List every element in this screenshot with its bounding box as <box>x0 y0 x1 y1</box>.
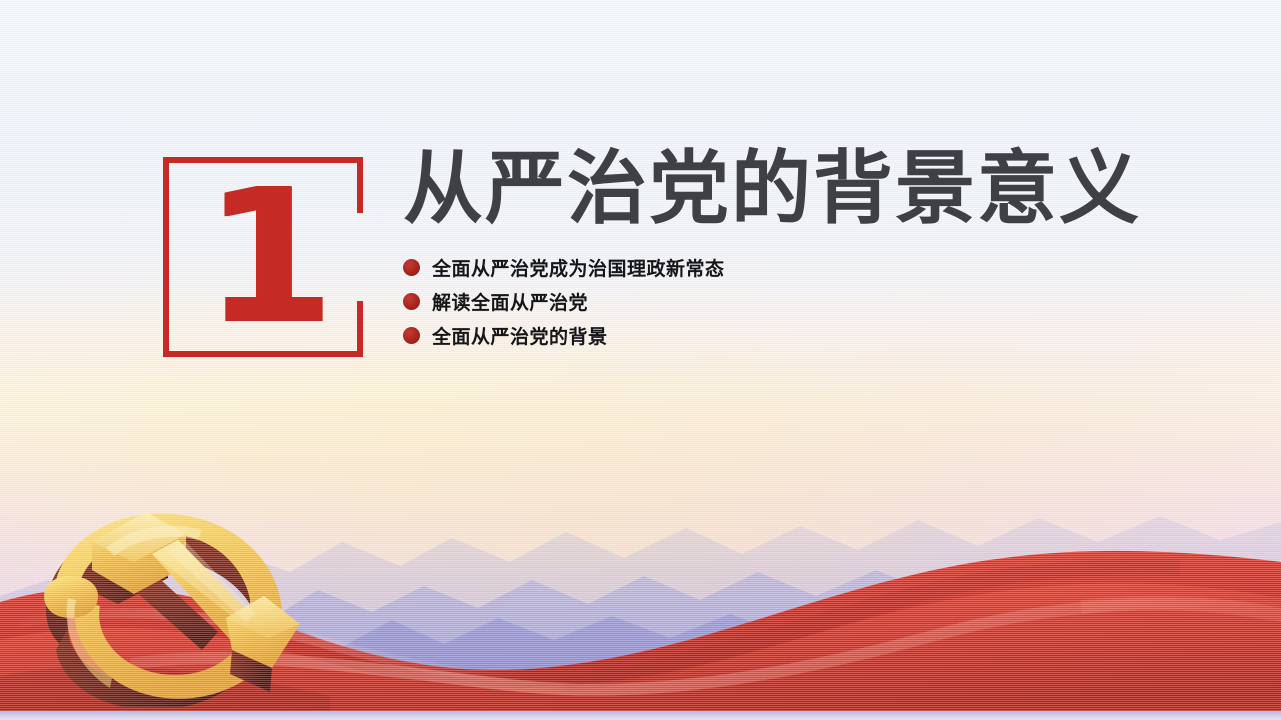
paper-texture-overlay <box>0 0 1281 720</box>
bottom-edge-strip <box>0 711 1281 720</box>
bullet-dot-icon <box>403 293 420 310</box>
list-item-label: 全面从严治党的背景 <box>432 322 608 349</box>
list-item: 全面从严治党的背景 <box>403 318 725 352</box>
section-number: 1 <box>163 157 363 357</box>
list-item-label: 解读全面从严治党 <box>432 288 588 315</box>
bullet-dot-icon <box>403 259 420 276</box>
slide-canvas: 1 从严治党的背景意义 全面从严治党成为治国理政新常态 解读全面从严治党 全面从… <box>0 0 1281 720</box>
list-item: 全面从严治党成为治国理政新常态 <box>403 250 725 284</box>
list-item-label: 全面从严治党成为治国理政新常态 <box>432 254 725 281</box>
page-title: 从严治党的背景意义 <box>403 148 1141 230</box>
bullet-dot-icon <box>403 327 420 344</box>
agenda-list: 全面从严治党成为治国理政新常态 解读全面从严治党 全面从严治党的背景 <box>403 250 725 352</box>
list-item: 解读全面从严治党 <box>403 284 725 318</box>
